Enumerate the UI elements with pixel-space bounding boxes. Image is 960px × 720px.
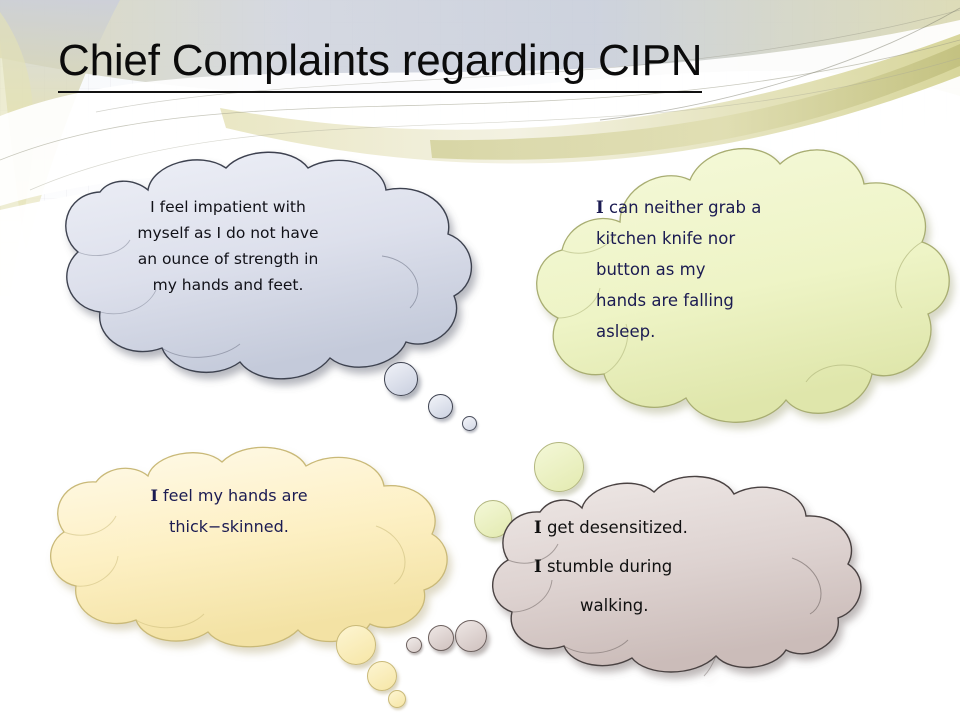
slide-title: Chief Complaints regarding CIPN	[58, 33, 918, 93]
cloud-yellow-line-2: thick−skinned.	[98, 511, 360, 542]
cloud-mauve-line-3: walking.	[562, 586, 784, 625]
cloud-blue-line-4: my hands and feet.	[92, 272, 364, 298]
cloud-blue-line-2: myself as I do not have	[92, 220, 364, 246]
cloud-green-line-2: kitchen knife nor	[626, 223, 846, 254]
cloud-yellow-line-1: I feel my hands are	[98, 480, 360, 511]
slide-canvas: Chief Complaints regarding CIPN	[0, 0, 960, 720]
thought-cloud-thick-skinned[interactable]: I feel my hands are thick−skinned.	[32, 452, 462, 637]
thought-tail-dot-mauve-small	[406, 637, 422, 653]
thought-cloud-kitchen-knife[interactable]: II can neither grab a can neither grab a…	[524, 136, 960, 456]
cloud-green-line-1: II can neither grab a can neither grab a	[626, 192, 846, 223]
thought-tail-dot-blue-small	[462, 416, 477, 431]
cloud-mauve-line-2: I stumble during	[562, 547, 784, 586]
cloud-blue-line-1: I feel impatient with	[92, 194, 364, 220]
thought-tail-dot-yellow-medium	[367, 661, 397, 691]
cloud-mauve-line-1: I get desensitized.	[562, 508, 784, 547]
thought-tail-dot-blue-large	[384, 362, 418, 396]
cloud-blue-text: I feel impatient with myself as I do not…	[92, 194, 364, 298]
cloud-yellow-text: I feel my hands are thick−skinned.	[98, 480, 360, 542]
cloud-green-line-4: hands are falling	[626, 285, 846, 316]
thought-tail-dot-blue-medium	[428, 394, 453, 419]
cloud-blue-line-3: an ounce of strength in	[92, 246, 364, 272]
thought-tail-dot-mauve-large	[455, 620, 487, 652]
thought-tail-dot-yellow-large	[336, 625, 376, 665]
thought-tail-dot-mauve-medium	[428, 625, 454, 651]
cloud-mauve-text: I get desensitized. I stumble during wal…	[534, 508, 784, 625]
cloud-green-line-3: button as my	[626, 254, 846, 285]
thought-tail-dot-yellow-small	[388, 690, 406, 708]
thought-cloud-desensitized[interactable]: I get desensitized. I stumble during wal…	[486, 482, 876, 672]
thought-cloud-impatient[interactable]: I feel impatient with myself as I do not…	[30, 148, 490, 388]
cloud-green-line-5: asleep.	[626, 316, 846, 347]
cloud-green-text: II can neither grab a can neither grab a…	[596, 192, 846, 347]
slide-title-text: Chief Complaints regarding CIPN	[58, 33, 702, 93]
